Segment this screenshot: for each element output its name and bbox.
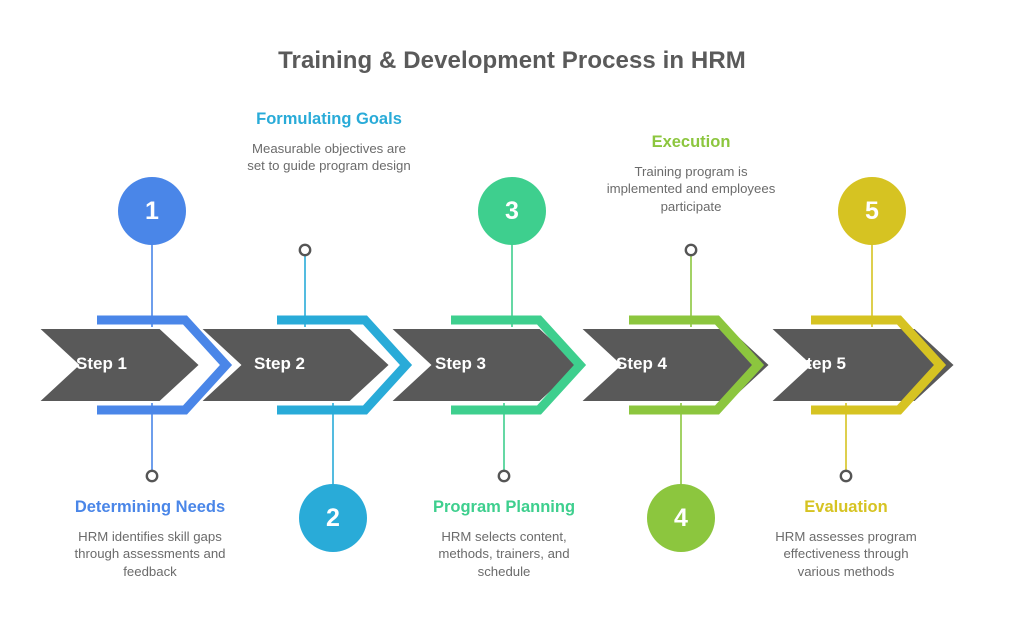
ribbon-label-step-5: Step 5	[795, 354, 846, 374]
ribbon-label-step-3: Step 3	[435, 354, 486, 374]
step-circle-4[interactable]: 4	[647, 484, 715, 552]
step-title-3: Program Planning	[419, 496, 589, 519]
connector-dot-step-3	[499, 471, 509, 481]
step-circle-number-2: 2	[326, 504, 340, 533]
step-text-block-2: Formulating Goals Measurable objectives …	[244, 108, 414, 175]
step-circle-number-3: 3	[505, 197, 519, 226]
step-description-2: Measurable objectives are set to guide p…	[244, 140, 414, 175]
step-description-5: HRM assesses program effectiveness throu…	[761, 528, 931, 581]
ribbon-label-step-4: Step 4	[616, 354, 667, 374]
step-circle-number-1: 1	[145, 197, 159, 226]
step-title-5: Evaluation	[761, 496, 931, 519]
step-circle-number-4: 4	[674, 504, 688, 533]
connector-dot-step-4	[686, 245, 696, 255]
step-text-block-3: Program Planning HRM selects content, me…	[419, 496, 589, 581]
connector-dot-step-2	[300, 245, 310, 255]
step-description-1: HRM identifies skill gaps through assess…	[65, 528, 235, 581]
connector-dot-step-1	[147, 471, 157, 481]
step-text-block-4: Execution Training program is implemente…	[606, 131, 776, 216]
step-text-block-1: Determining Needs HRM identifies skill g…	[65, 496, 235, 581]
ribbon-label-step-2: Step 2	[254, 354, 305, 374]
step-description-3: HRM selects content, methods, trainers, …	[419, 528, 589, 581]
connector-end-markers	[147, 245, 851, 481]
step-title-1: Determining Needs	[65, 496, 235, 519]
step-title-2: Formulating Goals	[244, 108, 414, 131]
step-circle-2[interactable]: 2	[299, 484, 367, 552]
ribbon-label-step-1: Step 1	[76, 354, 127, 374]
step-circle-number-5: 5	[865, 197, 879, 226]
step-circle-1[interactable]: 1	[118, 177, 186, 245]
step-text-block-5: Evaluation HRM assesses program effectiv…	[761, 496, 931, 581]
page-title: Training & Development Process in HRM	[0, 47, 1024, 75]
step-description-4: Training program is implemented and empl…	[606, 163, 776, 216]
step-title-4: Execution	[606, 131, 776, 154]
infographic-canvas: Training & Development Process in HRM	[0, 0, 1024, 632]
step-circle-5[interactable]: 5	[838, 177, 906, 245]
gray-chevron-segment-4	[580, 328, 770, 402]
connector-dot-step-5	[841, 471, 851, 481]
step-circle-3[interactable]: 3	[478, 177, 546, 245]
